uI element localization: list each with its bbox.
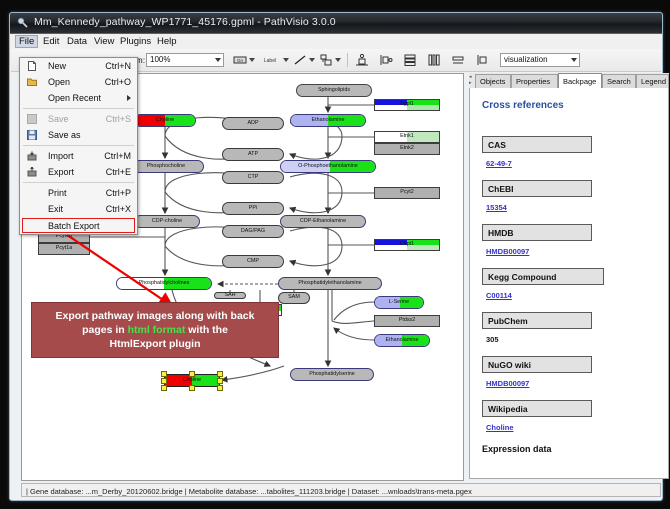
datanode-icon[interactable]: Gn: [233, 53, 247, 67]
menu-view[interactable]: View: [90, 35, 118, 48]
pathvisio-icon: [17, 17, 29, 29]
menu-item-export[interactable]: Export Ctrl+E: [20, 164, 137, 180]
annotation-line-2-b: with the: [185, 324, 228, 336]
screenshot-root: Mm_Kennedy_pathway_WP1771_45176.gpml - P…: [0, 0, 670, 509]
xref-source-hmdb: HMDB: [482, 224, 592, 241]
menu-data[interactable]: Data: [63, 35, 91, 48]
annotation-line-2-a: pages in: [82, 324, 128, 336]
menu-item-new[interactable]: New Ctrl+N: [20, 58, 137, 74]
align-left-icon[interactable]: [379, 53, 393, 67]
tab-strip: ◂▸ Objects Properties Backpage Search Le…: [469, 73, 669, 89]
stack-vertical-icon[interactable]: [403, 53, 417, 67]
menu-item-open[interactable]: Open Ctrl+O: [20, 74, 137, 90]
menu-item-label: Open Recent: [48, 93, 101, 103]
menu-item-accel: Ctrl+E: [106, 167, 131, 177]
svg-text:Label: Label: [264, 58, 276, 64]
chevron-down-icon: [571, 58, 577, 62]
menu-separator: [23, 108, 134, 109]
menu-item-accel: Ctrl+S: [106, 114, 131, 124]
chevron-down-icon: [215, 58, 221, 62]
menu-item-label: Import: [48, 151, 74, 161]
annotation-line-3: HtmlExport plugin: [56, 337, 255, 351]
menu-item-label: New: [48, 61, 66, 71]
line-dropdown-icon[interactable]: [309, 58, 315, 62]
menu-item-import[interactable]: Import Ctrl+M: [20, 148, 137, 164]
menu-file[interactable]: File: [15, 35, 38, 48]
menu-item-label: Export: [48, 167, 74, 177]
label-icon[interactable]: Label: [259, 53, 281, 67]
toolbar-separator: [347, 53, 348, 67]
menu-item-exit[interactable]: Exit Ctrl+X: [20, 201, 137, 217]
label-dropdown-icon[interactable]: [283, 58, 289, 62]
menu-plugins[interactable]: Plugins: [116, 35, 155, 48]
status-bar: | Gene database: ...m_Derby_20120602.bri…: [21, 483, 661, 497]
folder-open-icon: [27, 77, 37, 87]
menu-item-open-recent[interactable]: Open Recent: [20, 90, 137, 106]
tab-properties[interactable]: Properties: [511, 74, 558, 88]
shape-dropdown-icon[interactable]: [335, 58, 341, 62]
tab-legend[interactable]: Legend: [636, 74, 669, 88]
zoom-value: 100%: [150, 55, 170, 64]
annotation-line-1: Export pathway images along with back: [56, 309, 255, 323]
tab-objects[interactable]: Objects: [475, 74, 511, 88]
align-top-icon[interactable]: [355, 53, 369, 67]
xref-source-nugo: NuGO wiki: [482, 356, 592, 373]
annotation-line-2: pages in html format with the: [56, 323, 255, 337]
xref-source-wikipedia: Wikipedia: [482, 400, 592, 417]
window-title: Mm_Kennedy_pathway_WP1771_45176.gpml - P…: [34, 16, 336, 28]
file-menu-popup[interactable]: New Ctrl+N Open Ctrl+O Open Recent Save: [19, 57, 138, 235]
menu-help[interactable]: Help: [153, 35, 181, 48]
menu-item-label: Print: [48, 188, 67, 198]
menu-item-accel: Ctrl+P: [106, 188, 131, 198]
xref-value-hmdb[interactable]: HMDB00097: [486, 247, 529, 256]
menu-item-save: Save Ctrl+S: [20, 111, 137, 127]
zoom-combo[interactable]: 100%: [146, 53, 224, 67]
visualization-value: visualization: [504, 55, 548, 64]
menu-separator: [23, 145, 134, 146]
common-height-icon[interactable]: [475, 53, 489, 67]
menu-item-accel: Ctrl+N: [105, 61, 131, 71]
chevron-right-icon: [127, 95, 131, 101]
menu-item-label: Save: [48, 114, 69, 124]
expression-data-heading: Expression data: [482, 444, 552, 454]
xref-value-chebi[interactable]: 15354: [486, 203, 507, 212]
menu-item-label: Open: [48, 77, 70, 87]
cross-references-heading: Cross references: [482, 100, 564, 111]
xref-source-cas: CAS: [482, 136, 592, 153]
side-panel: ◂▸ Objects Properties Backpage Search Le…: [469, 73, 669, 479]
visualization-combo[interactable]: visualization: [500, 53, 580, 67]
menu-separator: [23, 182, 134, 183]
xref-value-pubchem: 305: [486, 335, 499, 344]
line-icon[interactable]: [293, 53, 307, 67]
tab-scroll-arrows-icon[interactable]: ◂▸: [469, 74, 474, 87]
shape-icon[interactable]: [319, 53, 333, 67]
tab-search[interactable]: Search: [602, 74, 636, 88]
datanode-dropdown-icon[interactable]: [249, 58, 255, 62]
menu-item-label: Batch Export: [48, 221, 100, 231]
menu-edit[interactable]: Edit: [39, 35, 63, 48]
xref-value-nugo[interactable]: HMDB00097: [486, 379, 529, 388]
tab-backpage[interactable]: Backpage: [558, 73, 602, 88]
import-icon: [27, 151, 37, 161]
menu-item-batch-export[interactable]: Batch Export: [20, 217, 137, 234]
annotation-callout: Export pathway images along with back pa…: [31, 302, 279, 358]
menu-item-save-as[interactable]: Save as: [20, 127, 137, 143]
xref-value-cas[interactable]: 62-49-7: [486, 159, 512, 168]
annotation-html-format: html format: [128, 324, 186, 336]
menu-item-accel: Ctrl+O: [105, 77, 131, 87]
backpage-content: Cross references CAS 62-49-7 ChEBI 15354…: [469, 88, 669, 479]
common-width-icon[interactable]: [451, 53, 465, 67]
menu-bar: File Edit Data View Plugins Help: [11, 34, 661, 50]
distribute-icon[interactable]: [427, 53, 441, 67]
new-file-icon: [27, 61, 37, 71]
svg-text:Gn: Gn: [237, 58, 244, 63]
xref-source-pubchem: PubChem: [482, 312, 592, 329]
xref-value-wikipedia[interactable]: Choline: [486, 423, 514, 432]
xref-value-kegg[interactable]: C00114: [486, 291, 512, 300]
save-as-icon: [27, 130, 37, 140]
save-icon: [27, 114, 37, 124]
application-window: Mm_Kennedy_pathway_WP1771_45176.gpml - P…: [9, 12, 663, 501]
menu-item-accel: Ctrl+X: [106, 204, 131, 214]
menu-item-accel: Ctrl+M: [104, 151, 131, 161]
xref-source-kegg: Kegg Compound: [482, 268, 604, 285]
title-bar: Mm_Kennedy_pathway_WP1771_45176.gpml - P…: [10, 13, 662, 34]
xref-source-chebi: ChEBI: [482, 180, 592, 197]
menu-item-label: Save as: [48, 130, 81, 140]
menu-item-print[interactable]: Print Ctrl+P: [20, 185, 137, 201]
menu-item-label: Exit: [48, 204, 63, 214]
export-icon: [27, 167, 37, 177]
